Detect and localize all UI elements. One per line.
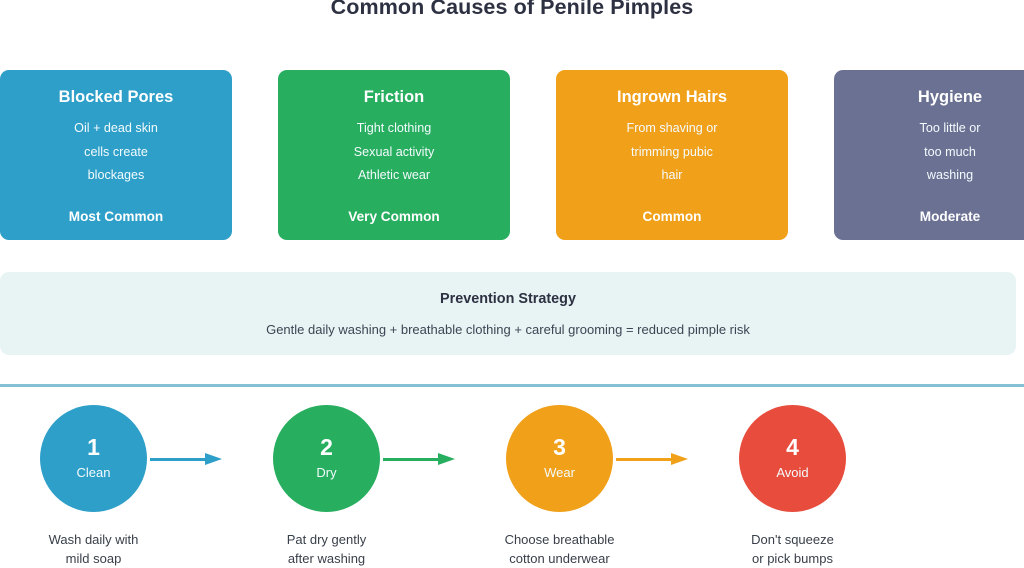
- section-divider: [0, 384, 1024, 387]
- step-number: 2: [320, 434, 333, 460]
- cause-description-line: Too little or: [920, 117, 981, 141]
- step-arrow-icon: [150, 453, 226, 465]
- cause-card[interactable]: Ingrown HairsFrom shaving ortrimming pub…: [556, 70, 788, 240]
- step-caption-line: Don't squeeze: [699, 531, 886, 550]
- cause-card-description: Oil + dead skincells createblockages: [74, 117, 158, 188]
- cause-card-description: Tight clothingSexual activityAthletic we…: [354, 117, 435, 188]
- step-label: Clean: [77, 463, 111, 483]
- prevention-step[interactable]: 4AvoidDon't squeezeor pick bumps: [699, 405, 932, 568]
- cause-description-line: Oil + dead skin: [74, 117, 158, 141]
- step-circle[interactable]: 4Avoid: [739, 405, 846, 512]
- arrow-line: [150, 458, 208, 461]
- prevention-step[interactable]: 3WearChoose breathablecotton underwear: [466, 405, 699, 568]
- arrow-head: [205, 453, 222, 465]
- cause-description-line: Sexual activity: [354, 141, 435, 165]
- cause-frequency-badge: Very Common: [278, 209, 510, 224]
- step-caption-line: mild soap: [0, 550, 187, 568]
- arrow-line: [616, 458, 674, 461]
- cause-cards-row: Blocked PoresOil + dead skincells create…: [0, 70, 1024, 240]
- cause-card-title: Ingrown Hairs: [617, 87, 727, 107]
- cause-card[interactable]: HygieneToo little ortoo muchwashingModer…: [834, 70, 1024, 240]
- step-arrow-icon: [383, 453, 459, 465]
- cause-frequency-badge: Moderate: [834, 209, 1024, 224]
- cause-description-line: hair: [627, 164, 718, 188]
- step-caption-line: cotton underwear: [466, 550, 653, 568]
- step-caption-line: Pat dry gently: [233, 531, 420, 550]
- page-title: Common Causes of Penile Pimples: [0, 0, 1024, 22]
- arrow-line: [383, 458, 441, 461]
- step-caption: Wash daily withmild soap: [0, 531, 187, 568]
- step-circle[interactable]: 3Wear: [506, 405, 613, 512]
- cause-card-description: Too little ortoo muchwashing: [920, 117, 981, 188]
- step-number: 3: [553, 434, 566, 460]
- step-number: 1: [87, 434, 100, 460]
- step-label: Wear: [544, 463, 575, 483]
- prevention-step[interactable]: 2DryPat dry gentlyafter washing: [233, 405, 466, 568]
- cause-description-line: too much: [920, 141, 981, 165]
- cause-description-line: trimming pubic: [627, 141, 718, 165]
- cause-card[interactable]: FrictionTight clothingSexual activityAth…: [278, 70, 510, 240]
- arrow-head: [438, 453, 455, 465]
- cause-card-title: Hygiene: [918, 87, 982, 107]
- step-caption-line: Wash daily with: [0, 531, 187, 550]
- step-arrow-icon: [616, 453, 692, 465]
- step-caption: Choose breathablecotton underwear: [466, 531, 653, 568]
- step-circle[interactable]: 1Clean: [40, 405, 147, 512]
- prevention-text: Gentle daily washing + breathable clothi…: [266, 321, 750, 339]
- cause-description-line: washing: [920, 164, 981, 188]
- cause-description-line: From shaving or: [627, 117, 718, 141]
- prevention-step[interactable]: 1CleanWash daily withmild soap: [0, 405, 233, 568]
- cause-frequency-badge: Most Common: [0, 209, 232, 224]
- step-caption-line: Choose breathable: [466, 531, 653, 550]
- prevention-steps-row: 1CleanWash daily withmild soap2DryPat dr…: [0, 405, 1024, 568]
- cause-card-title: Blocked Pores: [59, 87, 174, 107]
- prevention-heading: Prevention Strategy: [440, 289, 576, 309]
- cause-description-line: Athletic wear: [354, 164, 435, 188]
- step-caption-line: after washing: [233, 550, 420, 568]
- cause-description-line: blockages: [74, 164, 158, 188]
- step-caption-line: or pick bumps: [699, 550, 886, 568]
- cause-description-line: Tight clothing: [354, 117, 435, 141]
- cause-card-description: From shaving ortrimming pubichair: [627, 117, 718, 188]
- cause-card[interactable]: Blocked PoresOil + dead skincells create…: [0, 70, 232, 240]
- step-circle[interactable]: 2Dry: [273, 405, 380, 512]
- cause-card-title: Friction: [364, 87, 425, 107]
- cause-frequency-badge: Common: [556, 209, 788, 224]
- cause-description-line: cells create: [74, 141, 158, 165]
- step-number: 4: [786, 434, 799, 460]
- arrow-head: [671, 453, 688, 465]
- step-caption: Pat dry gentlyafter washing: [233, 531, 420, 568]
- prevention-strategy-banner: Prevention Strategy Gentle daily washing…: [0, 272, 1016, 355]
- step-label: Dry: [316, 463, 336, 483]
- step-caption: Don't squeezeor pick bumps: [699, 531, 886, 568]
- step-label: Avoid: [776, 463, 808, 483]
